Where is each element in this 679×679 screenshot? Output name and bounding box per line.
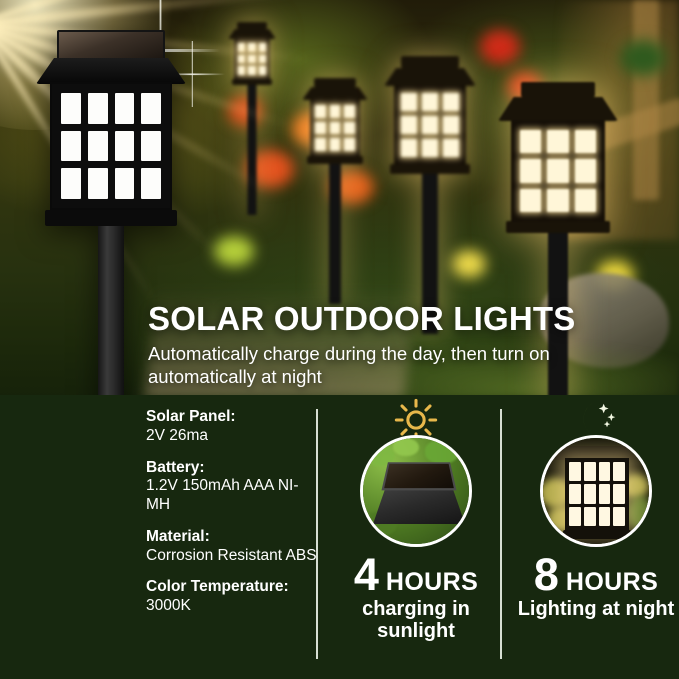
page-subtitle: Automatically charge during the day, the… <box>148 343 658 388</box>
leaf-blob <box>214 236 254 266</box>
spec-item: Battery: 1.2V 150mAh AAA NI-MH <box>146 459 318 515</box>
mini-lantern-panels <box>565 458 629 530</box>
lighting-hours: 8 HOURS <box>512 554 679 597</box>
leaf-blob <box>620 40 666 76</box>
flower-blob <box>452 250 486 278</box>
lighting-hours-unit: HOURS <box>566 568 658 597</box>
flower-blob <box>480 30 520 64</box>
spec-value: 2V 26ma <box>146 427 318 446</box>
fence-post <box>633 0 659 200</box>
feature-lighting: 8 HOURS Lighting at night <box>512 403 679 620</box>
spec-label: Solar Panel: <box>146 408 318 427</box>
spec-value: 3000K <box>146 597 318 616</box>
charging-photo <box>360 435 472 547</box>
lit-lantern-closeup <box>543 438 649 544</box>
headline-block: SOLAR OUTDOOR LIGHTS Automatically charg… <box>148 302 658 388</box>
page-title: SOLAR OUTDOOR LIGHTS <box>148 302 658 335</box>
lantern-light-panel <box>50 82 172 210</box>
product-infographic: SOLAR OUTDOOR LIGHTS Automatically charg… <box>0 0 679 679</box>
column-divider <box>500 409 502 659</box>
charging-caption: charging in sunlight <box>332 598 500 642</box>
lighting-hours-number: 8 <box>534 554 559 597</box>
lantern-base <box>45 210 177 226</box>
column-divider <box>316 409 318 659</box>
spec-label: Battery: <box>146 459 318 478</box>
specifications-list: Solar Panel: 2V 26ma Battery: 1.2V 150mA… <box>146 408 318 629</box>
feature-charging: 4 HOURS charging in sunlight <box>332 403 500 642</box>
spec-item: Material: Corrosion Resistant ABS <box>146 528 318 566</box>
charging-hours-unit: HOURS <box>386 568 478 597</box>
flower-blob <box>228 96 262 126</box>
spec-value: 1.2V 150mAh AAA NI-MH <box>146 477 318 515</box>
lighting-caption: Lighting at night <box>512 598 679 620</box>
charging-hours-number: 4 <box>354 554 379 597</box>
spec-item: Color Temperature: 3000K <box>146 578 318 616</box>
lighting-photo <box>540 435 652 547</box>
spec-item: Solar Panel: 2V 26ma <box>146 408 318 446</box>
spec-label: Material: <box>146 528 318 547</box>
solar-panel-cap <box>57 30 165 60</box>
specs-panel: Solar Panel: 2V 26ma Battery: 1.2V 150mA… <box>0 395 679 679</box>
charging-hours: 4 HOURS <box>332 554 500 597</box>
solar-panel-closeup <box>363 438 469 544</box>
spec-label: Color Temperature: <box>146 578 318 597</box>
spec-value: Corrosion Resistant ABS <box>146 547 318 566</box>
mini-lantern-base <box>563 530 631 539</box>
lantern-roof <box>36 58 186 84</box>
cap-solar-cell <box>381 462 456 490</box>
